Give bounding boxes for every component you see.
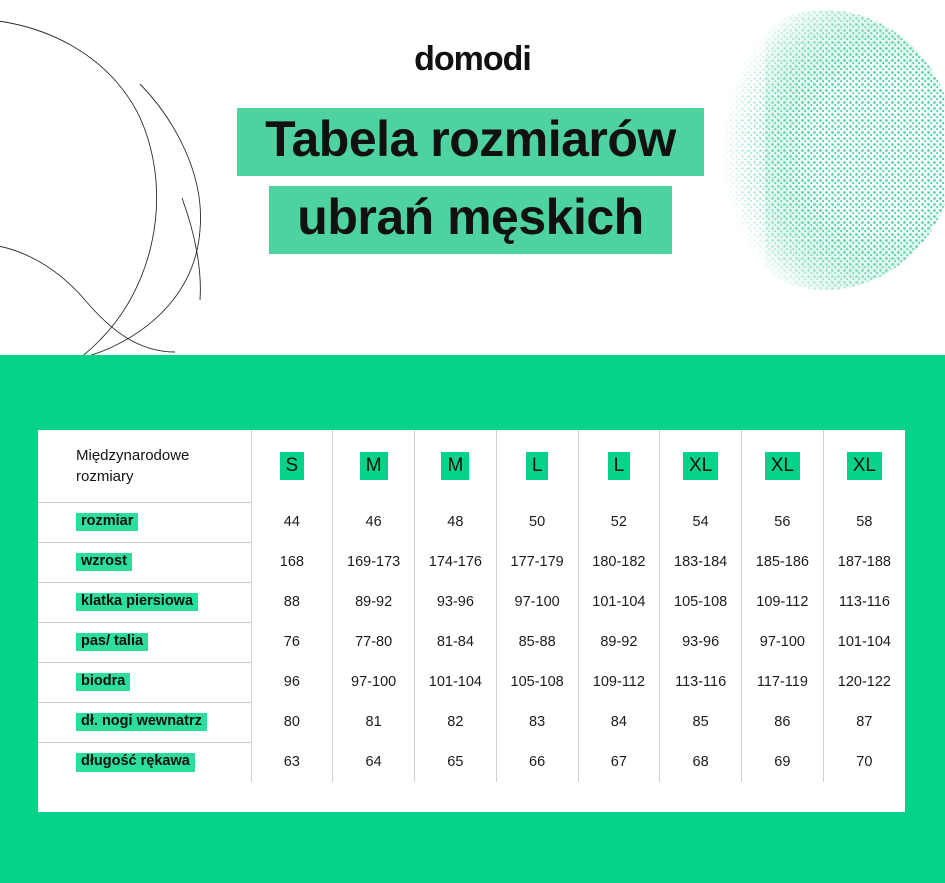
measurement-cell: 180-182 xyxy=(578,542,660,582)
row-label-cell: wzrost xyxy=(38,542,251,582)
size-table-body: rozmiar 44 46 48 50 52 54 56 58 wzrost xyxy=(38,502,905,782)
measurement-cell: 65 xyxy=(415,742,497,782)
measurement-cell: 76 xyxy=(251,622,333,662)
measurement-cell: 89-92 xyxy=(578,622,660,662)
measurement-cell: 85-88 xyxy=(496,622,578,662)
size-header-cell: S xyxy=(251,430,333,502)
row-label-cell: pas/ talia xyxy=(38,622,251,662)
row-label: klatka piersiowa xyxy=(76,593,198,612)
measurement-cell: 50 xyxy=(496,502,578,542)
size-badge: XL xyxy=(765,452,800,480)
size-badge: L xyxy=(608,452,631,480)
size-header-cell: L xyxy=(496,430,578,502)
measurement-cell: 101-104 xyxy=(578,582,660,622)
measurement-cell: 89-92 xyxy=(333,582,415,622)
row-label: pas/ talia xyxy=(76,633,148,652)
hero-section: domodi Tabela rozmiarów ubrań męskich xyxy=(0,0,945,355)
page-title: Tabela rozmiarów ubrań męskich xyxy=(0,108,945,254)
measurement-cell: 117-119 xyxy=(742,662,824,702)
table-row: długość rękawa 63 64 65 66 67 68 69 70 xyxy=(38,742,905,782)
table-row: biodra 96 97-100 101-104 105-108 109-112… xyxy=(38,662,905,702)
size-header-cell: L xyxy=(578,430,660,502)
measurement-cell: 66 xyxy=(496,742,578,782)
brand-logo: domodi xyxy=(0,40,945,79)
measurement-cell: 46 xyxy=(333,502,415,542)
measurement-cell: 81 xyxy=(333,702,415,742)
row-label: rozmiar xyxy=(76,513,138,532)
table-row: pas/ talia 76 77-80 81-84 85-88 89-92 93… xyxy=(38,622,905,662)
measurement-cell: 67 xyxy=(578,742,660,782)
measurement-cell: 68 xyxy=(660,742,742,782)
row-label: długość rękawa xyxy=(76,753,195,772)
size-badge: M xyxy=(360,452,388,480)
corner-header: Międzynarodowe rozmiary xyxy=(38,430,251,502)
size-table-card: Międzynarodowe rozmiary S M M L L xyxy=(38,430,905,812)
page-title-line-1: Tabela rozmiarów xyxy=(237,108,704,176)
row-label: wzrost xyxy=(76,553,132,572)
measurement-cell: 185-186 xyxy=(742,542,824,582)
measurement-cell: 97-100 xyxy=(742,622,824,662)
measurement-cell: 183-184 xyxy=(660,542,742,582)
measurement-cell: 85 xyxy=(660,702,742,742)
size-badge: XL xyxy=(847,452,882,480)
measurement-cell: 44 xyxy=(251,502,333,542)
measurement-cell: 101-104 xyxy=(415,662,497,702)
measurement-cell: 63 xyxy=(251,742,333,782)
measurement-cell: 82 xyxy=(415,702,497,742)
row-label-cell: klatka piersiowa xyxy=(38,582,251,622)
measurement-cell: 168 xyxy=(251,542,333,582)
measurement-cell: 52 xyxy=(578,502,660,542)
row-label: biodra xyxy=(76,673,130,692)
size-header-cell: M xyxy=(333,430,415,502)
size-badge: L xyxy=(526,452,549,480)
measurement-cell: 169-173 xyxy=(333,542,415,582)
measurement-cell: 87 xyxy=(823,702,905,742)
size-header-cell: XL xyxy=(742,430,824,502)
measurement-cell: 105-108 xyxy=(496,662,578,702)
measurement-cell: 97-100 xyxy=(496,582,578,622)
table-row: klatka piersiowa 88 89-92 93-96 97-100 1… xyxy=(38,582,905,622)
table-row: dł. nogi wewnatrz 80 81 82 83 84 85 86 8… xyxy=(38,702,905,742)
table-row: wzrost 168 169-173 174-176 177-179 180-1… xyxy=(38,542,905,582)
measurement-cell: 109-112 xyxy=(742,582,824,622)
size-header-cell: XL xyxy=(823,430,905,502)
measurement-cell: 77-80 xyxy=(333,622,415,662)
row-label-cell: rozmiar xyxy=(38,502,251,542)
measurement-cell: 93-96 xyxy=(660,622,742,662)
measurement-cell: 88 xyxy=(251,582,333,622)
row-label-cell: biodra xyxy=(38,662,251,702)
row-label: dł. nogi wewnatrz xyxy=(76,713,207,732)
measurement-cell: 54 xyxy=(660,502,742,542)
measurement-cell: 101-104 xyxy=(823,622,905,662)
measurement-cell: 177-179 xyxy=(496,542,578,582)
measurement-cell: 56 xyxy=(742,502,824,542)
measurement-cell: 120-122 xyxy=(823,662,905,702)
size-badge: XL xyxy=(683,452,718,480)
measurement-cell: 58 xyxy=(823,502,905,542)
row-label-cell: dł. nogi wewnatrz xyxy=(38,702,251,742)
size-table-head: Międzynarodowe rozmiary S M M L L xyxy=(38,430,905,502)
size-badge: S xyxy=(280,452,305,480)
size-header-cell: M xyxy=(415,430,497,502)
measurement-cell: 81-84 xyxy=(415,622,497,662)
measurement-cell: 70 xyxy=(823,742,905,782)
measurement-cell: 97-100 xyxy=(333,662,415,702)
page-title-line-2: ubrań męskich xyxy=(269,186,671,254)
measurement-cell: 84 xyxy=(578,702,660,742)
header-row: Międzynarodowe rozmiary S M M L L xyxy=(38,430,905,502)
measurement-cell: 113-116 xyxy=(823,582,905,622)
table-row: rozmiar 44 46 48 50 52 54 56 58 xyxy=(38,502,905,542)
measurement-cell: 105-108 xyxy=(660,582,742,622)
size-badge: M xyxy=(441,452,469,480)
size-table: Międzynarodowe rozmiary S M M L L xyxy=(38,430,905,782)
measurement-cell: 187-188 xyxy=(823,542,905,582)
measurement-cell: 93-96 xyxy=(415,582,497,622)
measurement-cell: 48 xyxy=(415,502,497,542)
measurement-cell: 83 xyxy=(496,702,578,742)
measurement-cell: 80 xyxy=(251,702,333,742)
size-header-cell: XL xyxy=(660,430,742,502)
measurement-cell: 69 xyxy=(742,742,824,782)
measurement-cell: 64 xyxy=(333,742,415,782)
measurement-cell: 86 xyxy=(742,702,824,742)
measurement-cell: 96 xyxy=(251,662,333,702)
row-label-cell: długość rękawa xyxy=(38,742,251,782)
measurement-cell: 174-176 xyxy=(415,542,497,582)
measurement-cell: 109-112 xyxy=(578,662,660,702)
infographic-page: domodi Tabela rozmiarów ubrań męskich Mi… xyxy=(0,0,945,883)
measurement-cell: 113-116 xyxy=(660,662,742,702)
